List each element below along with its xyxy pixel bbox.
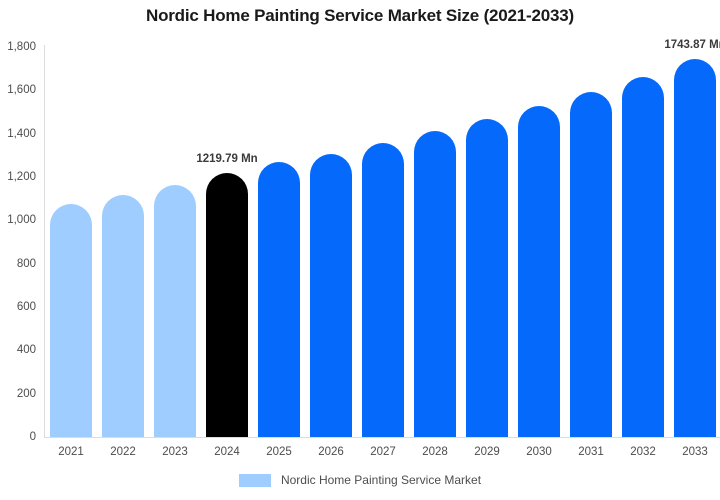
bar-chart: Nordic Home Painting Service Market Size… [0, 0, 720, 500]
bar-2032[interactable] [622, 77, 664, 437]
bar-2025[interactable] [258, 162, 300, 437]
bar-2028[interactable] [414, 131, 456, 437]
x-axis-tick-label-2027: 2027 [362, 446, 404, 458]
x-axis-tick-label-2026: 2026 [310, 446, 352, 458]
bar-2024[interactable] [206, 173, 248, 437]
bar-2022[interactable] [102, 195, 144, 437]
bars-layer: 2021202220232024202520262027202820292030… [0, 0, 720, 500]
x-axis-tick-label-2033: 2033 [674, 446, 716, 458]
x-axis-tick-label-2023: 2023 [154, 446, 196, 458]
bar-2031[interactable] [570, 92, 612, 437]
x-axis-tick-label-2028: 2028 [414, 446, 456, 458]
x-axis-tick-label-2030: 2030 [518, 446, 560, 458]
bar-2033[interactable] [674, 59, 716, 437]
x-axis-tick-label-2022: 2022 [102, 446, 144, 458]
data-label-2024: 1219.79 Mn [196, 153, 257, 165]
legend-swatch [239, 474, 271, 487]
x-axis-tick-label-2032: 2032 [622, 446, 664, 458]
bar-2029[interactable] [466, 119, 508, 437]
x-axis-tick-label-2024: 2024 [206, 446, 248, 458]
legend-label: Nordic Home Painting Service Market [281, 473, 481, 487]
chart-legend: Nordic Home Painting Service Market [0, 473, 720, 487]
x-axis-tick-label-2025: 2025 [258, 446, 300, 458]
x-axis-tick-label-2029: 2029 [466, 446, 508, 458]
data-label-2033: 1743.87 Mn [664, 39, 720, 51]
bar-2027[interactable] [362, 143, 404, 437]
bar-2026[interactable] [310, 154, 352, 437]
x-axis-tick-label-2021: 2021 [50, 446, 92, 458]
bar-2030[interactable] [518, 106, 560, 437]
x-axis-tick-label-2031: 2031 [570, 446, 612, 458]
bar-2021[interactable] [50, 204, 92, 437]
bar-2023[interactable] [154, 185, 196, 437]
